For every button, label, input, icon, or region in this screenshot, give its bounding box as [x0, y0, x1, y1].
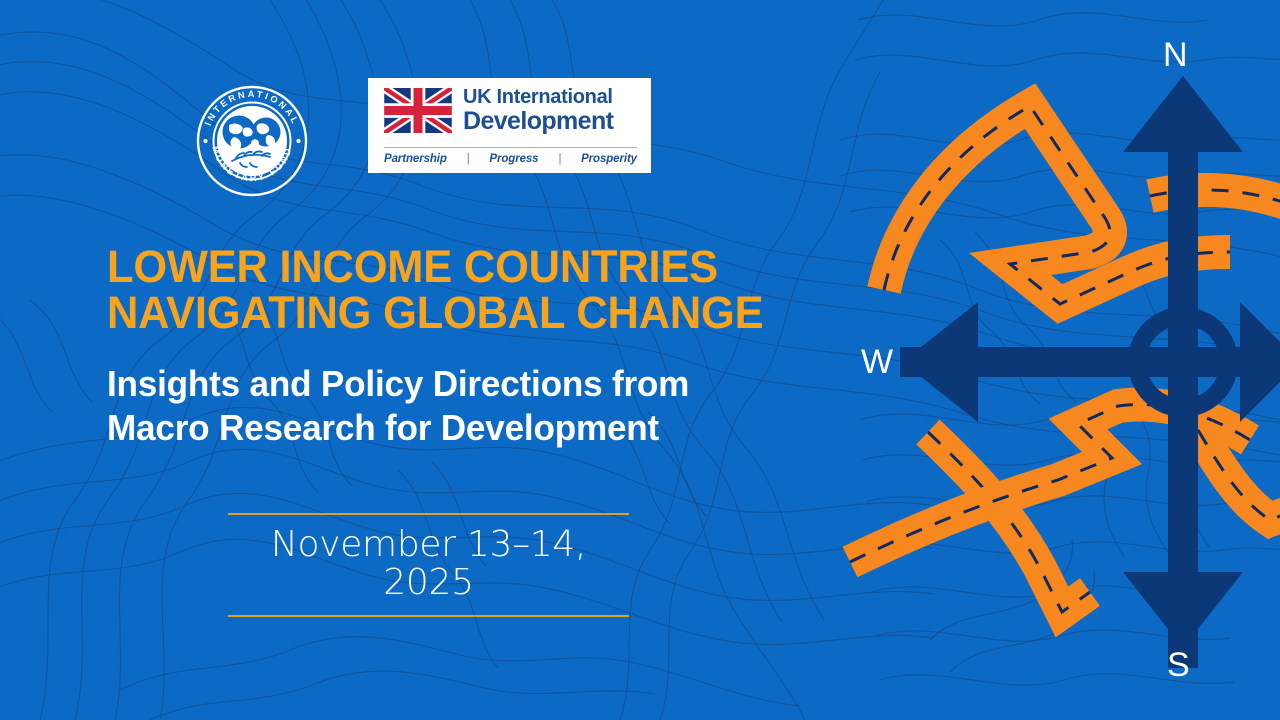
- uk-tagline-separator-2: |: [558, 153, 561, 165]
- compass-arrows: [900, 76, 1280, 668]
- event-banner: N W S: [0, 0, 1280, 720]
- uk-tagline-progress: Progress: [489, 153, 538, 165]
- uk-tagline-separator-1: |: [467, 153, 470, 165]
- road-northwest: [884, 106, 1230, 304]
- compass-label-south: S: [1167, 648, 1190, 682]
- page-subtitle: Insights and Policy Directions from Macr…: [107, 362, 809, 450]
- compass-label-north: N: [1163, 38, 1188, 72]
- event-date-block: November 13–14, 2025: [228, 513, 629, 617]
- uk-logo-line1: UK International: [463, 88, 613, 108]
- headline-block: LOWER INCOME COUNTRIES NAVIGATING GLOBAL…: [107, 244, 827, 450]
- uk-logo-top-row: UK International Development: [384, 88, 637, 133]
- logo-row: INTERNATIONAL MONETARY FUND UK Inte: [0, 0, 700, 200]
- road-southwest-crossing: [850, 404, 1250, 562]
- road-southwest: [928, 432, 1090, 612]
- page-title: LOWER INCOME COUNTRIES NAVIGATING GLOBAL…: [107, 244, 802, 336]
- road-northeast: [1150, 190, 1280, 226]
- uk-wordmark: UK International Development: [463, 88, 613, 133]
- union-jack-icon: [384, 88, 452, 133]
- uk-tagline-partnership: Partnership: [384, 153, 447, 165]
- road-southeast: [1198, 430, 1280, 520]
- event-date: November 13–14, 2025: [228, 526, 629, 602]
- uk-international-development-logo: UK International Development Partnership…: [368, 78, 651, 173]
- compass-label-west: W: [861, 345, 894, 379]
- imf-logo: INTERNATIONAL MONETARY FUND: [196, 85, 308, 197]
- uk-logo-tagline: Partnership | Progress | Prosperity: [384, 147, 637, 165]
- uk-logo-line2: Development: [463, 109, 613, 134]
- uk-tagline-prosperity: Prosperity: [581, 153, 637, 165]
